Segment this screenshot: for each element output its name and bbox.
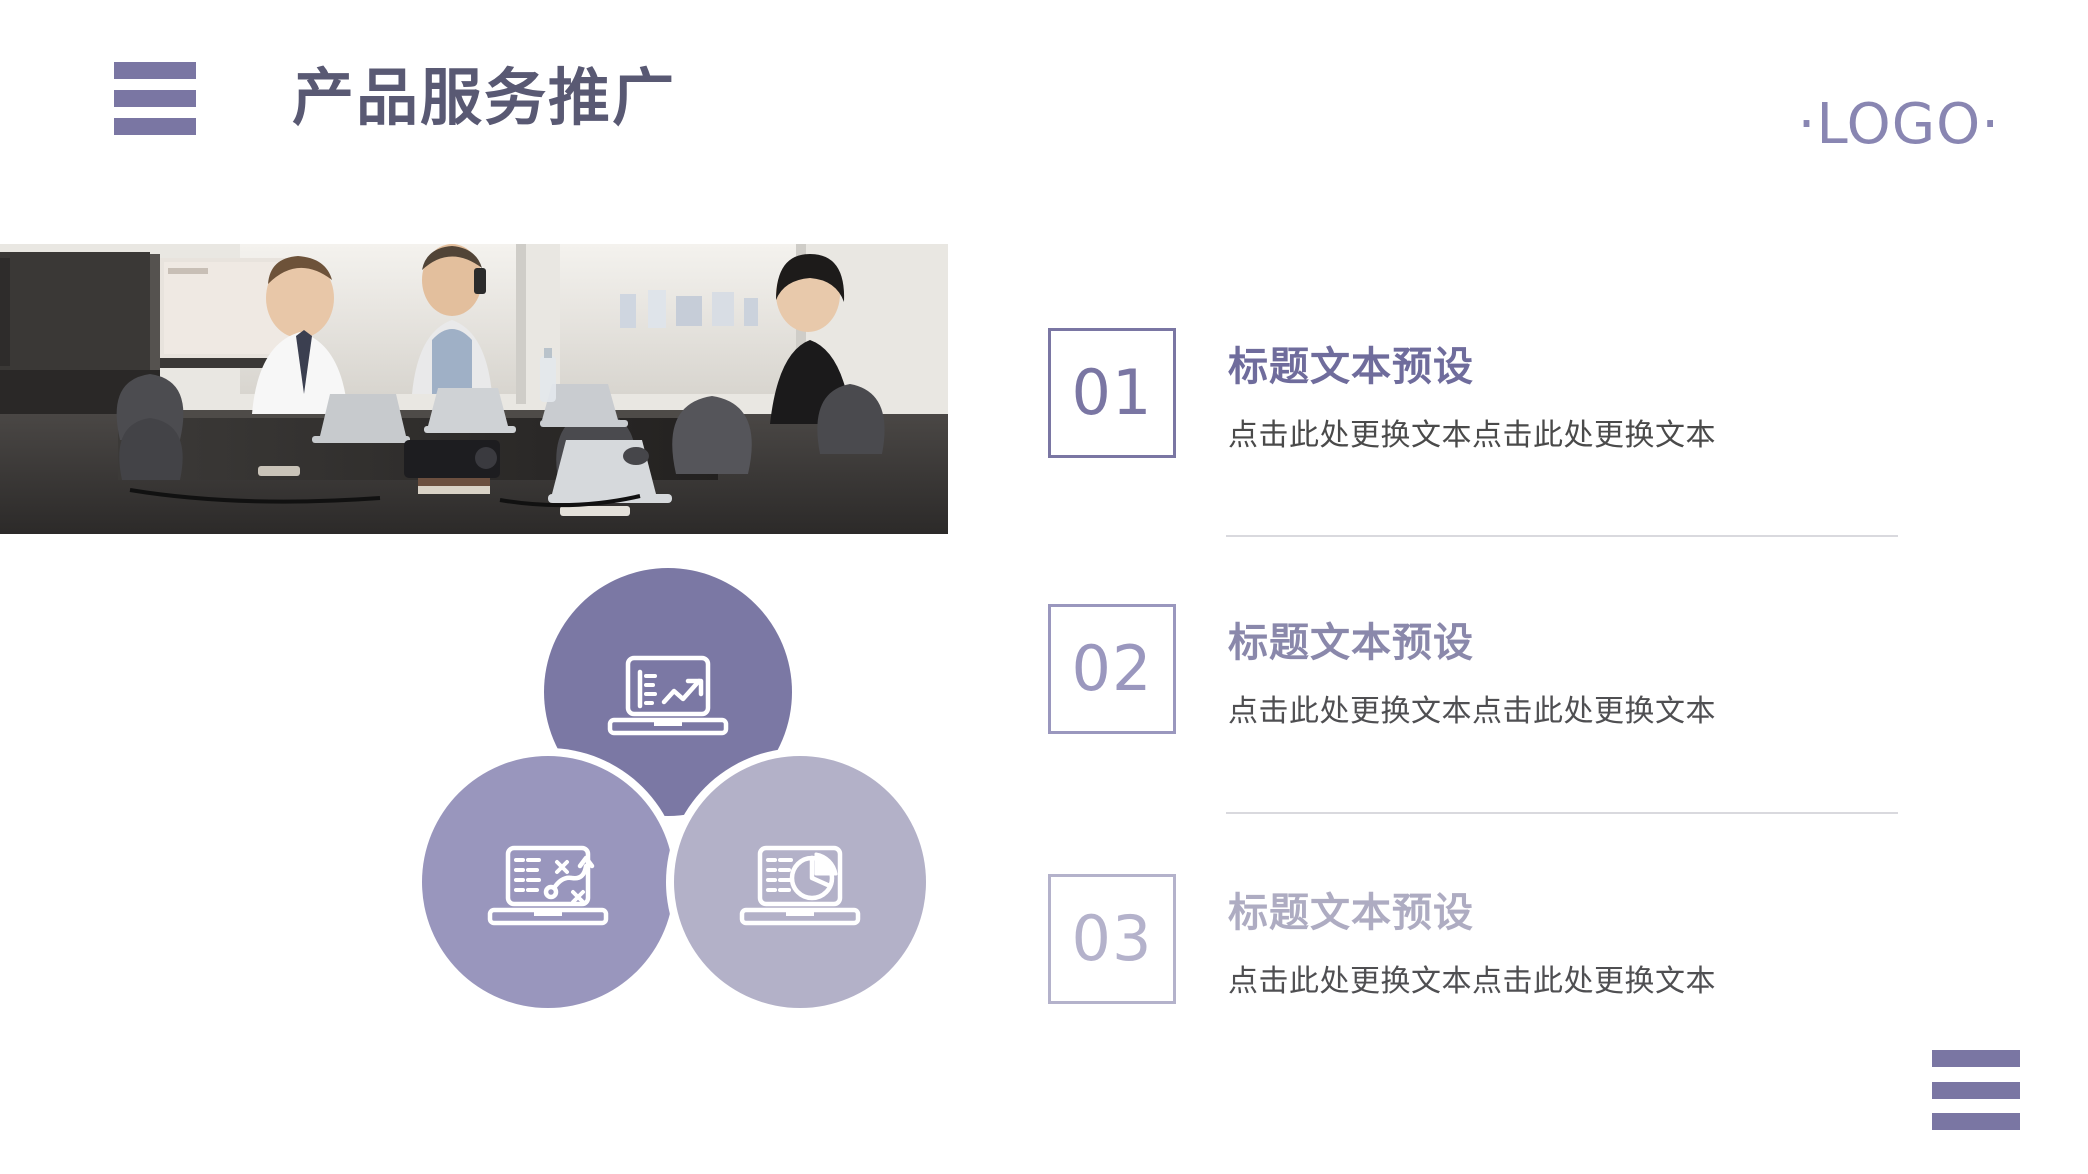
page-title: 产品服务推广 — [292, 63, 676, 134]
item-number-box: 02 — [1048, 604, 1176, 734]
list-item[interactable]: 02 标题文本预设 点击此处更换文本点击此处更换文本 — [1048, 596, 1948, 776]
item-number: 01 — [1072, 362, 1153, 424]
hamburger-menu-icon[interactable] — [1932, 1050, 2020, 1130]
hamburger-bar-1 — [1932, 1050, 2020, 1067]
venn-diagram — [400, 550, 960, 1030]
list-item[interactable]: 03 标题文本预设 点击此处更换文本点击此处更换文本 — [1048, 866, 1948, 1046]
item-title: 标题文本预设 — [1228, 610, 1474, 668]
item-description: 点击此处更换文本点击此处更换文本 — [1228, 956, 1716, 1000]
list-divider — [1226, 812, 1898, 814]
item-number-box: 03 — [1048, 874, 1176, 1004]
item-description: 点击此处更换文本点击此处更换文本 — [1228, 686, 1716, 730]
list-item[interactable]: 01 标题文本预设 点击此处更换文本点击此处更换文本 — [1048, 320, 1948, 500]
item-title: 标题文本预设 — [1228, 334, 1474, 392]
content-list: 01 标题文本预设 点击此处更换文本点击此处更换文本 02 标题文本预设 点击此… — [1048, 320, 1948, 1060]
hamburger-bar-1 — [114, 62, 196, 79]
item-description: 点击此处更换文本点击此处更换文本 — [1228, 410, 1716, 454]
logo: ·LOGO· — [1798, 92, 2000, 157]
office-meeting-photo — [0, 244, 948, 534]
item-number: 03 — [1072, 908, 1153, 970]
slide: 产品服务推广 ·LOGO· — [0, 0, 2088, 1174]
venn-circle-bottom-left — [422, 756, 674, 1008]
item-number: 02 — [1072, 638, 1153, 700]
hamburger-bar-3 — [1932, 1113, 2020, 1130]
venn-circle-bottom-right — [674, 756, 926, 1008]
item-number-box: 01 — [1048, 328, 1176, 458]
list-divider — [1226, 535, 1898, 537]
hamburger-bar-2 — [114, 90, 196, 107]
hamburger-bar-2 — [1932, 1082, 2020, 1099]
hamburger-bar-3 — [114, 118, 196, 135]
item-title: 标题文本预设 — [1228, 880, 1474, 938]
hamburger-menu-icon[interactable] — [114, 62, 196, 135]
